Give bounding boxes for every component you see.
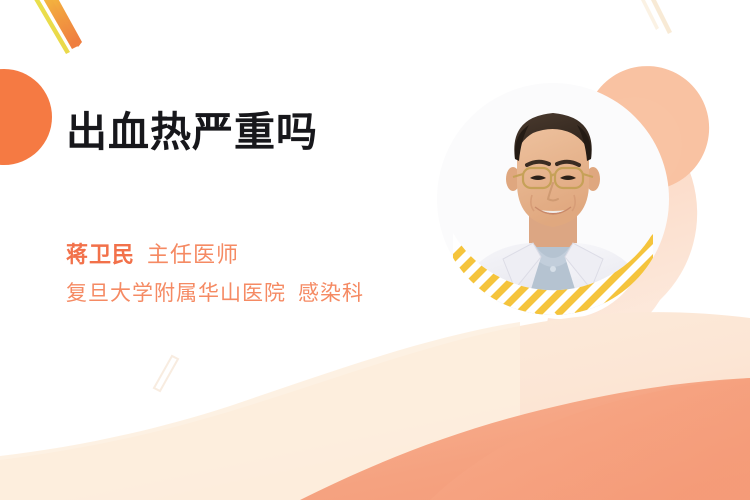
doctor-name-line: 蒋卫民主任医师 [66,244,364,266]
bottom-left-faint-stripe [154,356,178,391]
title-block: 出血热严重吗 [66,108,466,156]
doctor-portrait [437,83,669,315]
shirt-button [550,266,556,272]
doctor-hospital: 复旦大学附属华山医院 [66,282,286,305]
video-thumbnail-card: 出血热严重吗 蒋卫民主任医师 复旦大学附属华山医院感染科 [0,0,750,500]
page-title: 出血热严重吗 [66,108,466,156]
doctor-affiliation-line: 复旦大学附属华山医院感染科 [66,283,364,304]
doctor-name: 蒋卫民 [66,242,135,267]
doctor-credit-block: 蒋卫民主任医师 复旦大学附属华山医院感染科 [66,244,364,304]
doctor-department: 感染科 [298,282,364,305]
left-orange-circle [0,69,52,165]
doctor-role: 主任医师 [147,242,239,267]
top-right-cream-stripes [637,0,672,34]
